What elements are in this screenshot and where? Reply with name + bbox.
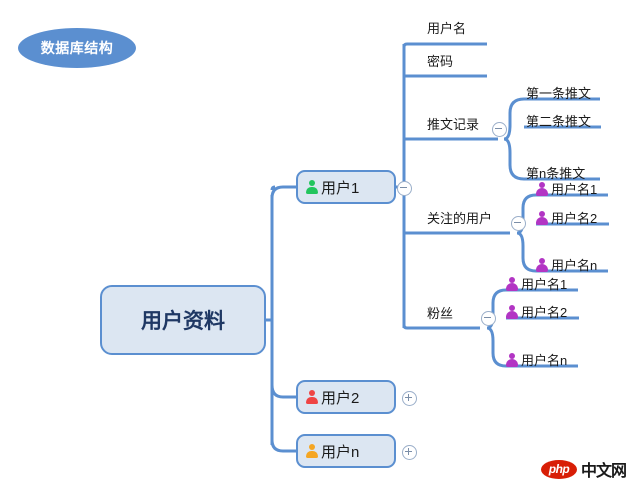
person-icon [305, 390, 318, 404]
tweet-item-2-label: 第二条推文 [526, 111, 591, 130]
field-tweet-records[interactable]: 推文记录 [424, 114, 479, 133]
person-icon [305, 444, 318, 458]
field-password-label: 密码 [427, 51, 453, 70]
following-item-2[interactable]: 用户名2 [535, 208, 597, 227]
node-user-n[interactable]: 用户n [296, 434, 396, 468]
field-followers-label: 粉丝 [427, 303, 453, 322]
field-password[interactable]: 密码 [424, 51, 453, 70]
toggle-user-2[interactable] [402, 391, 417, 406]
root-node-user-profile[interactable]: 用户资料 [100, 285, 266, 355]
root-node-label: 用户资料 [141, 305, 225, 335]
node-user-2[interactable]: 用户2 [296, 380, 396, 414]
following-item-n[interactable]: 用户名n [535, 255, 597, 274]
field-tweet-records-label: 推文记录 [427, 114, 479, 133]
connector-lines [0, 0, 634, 489]
following-item-1[interactable]: 用户名1 [535, 179, 597, 198]
follower-item-2-label: 用户名2 [521, 302, 567, 321]
person-icon [535, 211, 548, 225]
following-item-n-label: 用户名n [551, 255, 597, 274]
node-user-n-label: 用户n [321, 441, 359, 462]
person-icon [505, 353, 518, 367]
diagram-title-label: 数据库结构 [41, 38, 114, 58]
mindmap-canvas: 数据库结构 用户资料 用户1 用户2 用户n 用户名 密码 推文记录 关注的用户… [0, 0, 634, 489]
follower-item-1-label: 用户名1 [521, 274, 567, 293]
watermark: php 中文网 [541, 457, 626, 481]
node-user-2-label: 用户2 [321, 387, 359, 408]
php-logo-icon: php [541, 460, 577, 479]
person-icon [535, 182, 548, 196]
field-username-label: 用户名 [427, 18, 466, 37]
watermark-text: 中文网 [581, 457, 626, 481]
follower-item-2[interactable]: 用户名2 [505, 302, 567, 321]
person-icon [305, 180, 318, 194]
follower-item-n[interactable]: 用户名n [505, 350, 567, 369]
toggle-followers[interactable] [481, 311, 496, 326]
tweet-item-1[interactable]: 第一条推文 [523, 83, 591, 102]
field-username[interactable]: 用户名 [424, 18, 466, 37]
follower-item-n-label: 用户名n [521, 350, 567, 369]
field-following-label: 关注的用户 [427, 208, 492, 227]
field-following[interactable]: 关注的用户 [424, 208, 492, 227]
tweet-item-1-label: 第一条推文 [526, 83, 591, 102]
toggle-tweet-records[interactable] [492, 122, 507, 137]
following-item-1-label: 用户名1 [551, 179, 597, 198]
follower-item-1[interactable]: 用户名1 [505, 274, 567, 293]
field-followers[interactable]: 粉丝 [424, 303, 453, 322]
node-user-1-label: 用户1 [321, 177, 359, 198]
person-icon [535, 258, 548, 272]
node-user-1[interactable]: 用户1 [296, 170, 396, 204]
person-icon [505, 277, 518, 291]
toggle-user-n[interactable] [402, 445, 417, 460]
diagram-title-badge: 数据库结构 [18, 28, 136, 68]
person-icon [505, 305, 518, 319]
tweet-item-2[interactable]: 第二条推文 [523, 111, 591, 130]
following-item-2-label: 用户名2 [551, 208, 597, 227]
toggle-following[interactable] [511, 216, 526, 231]
toggle-user-1[interactable] [397, 181, 412, 196]
